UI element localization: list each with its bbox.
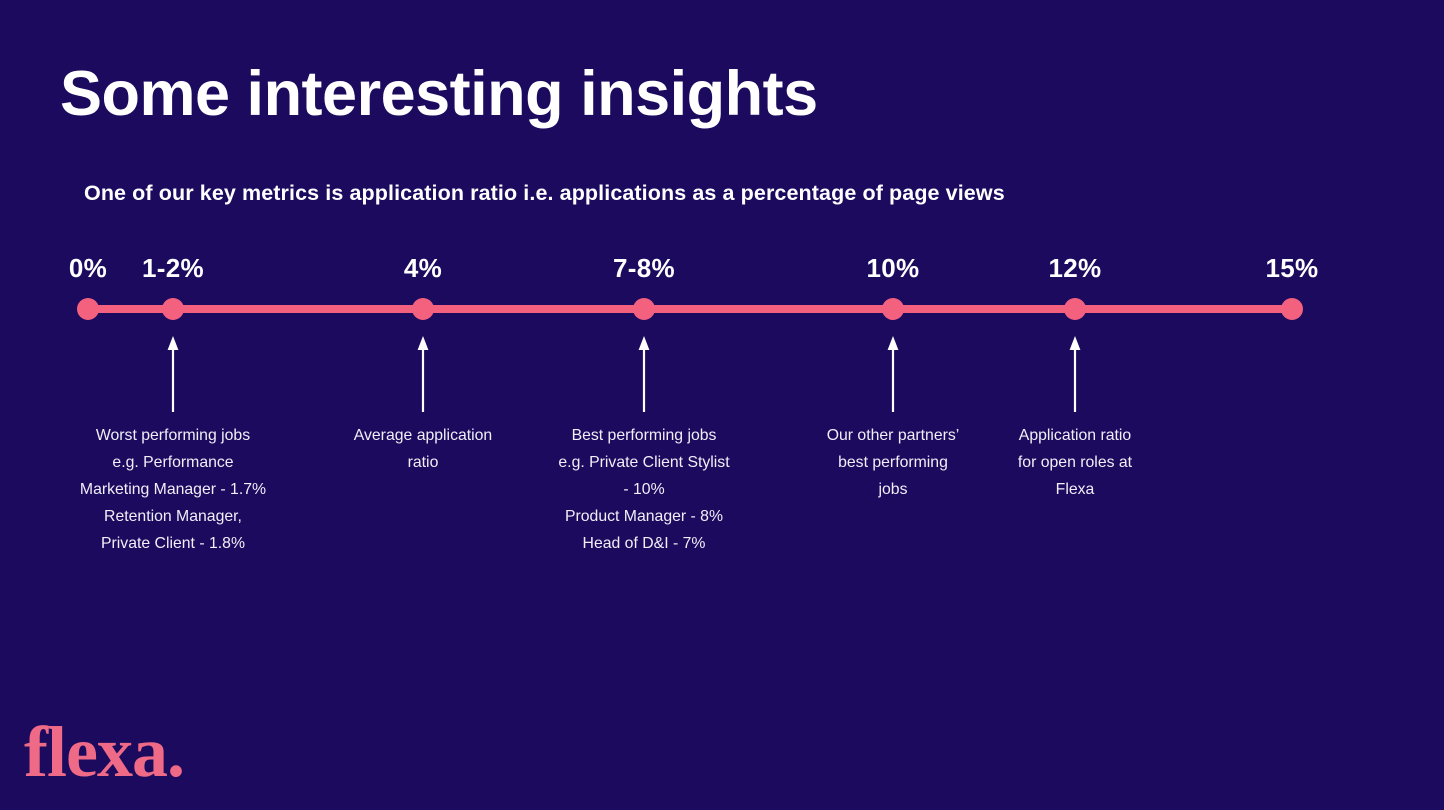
timeline-dot[interactable] xyxy=(77,298,99,320)
annotation-line: Flexa xyxy=(995,476,1155,503)
slide-canvas: Some interesting insights One of our key… xyxy=(0,0,1444,810)
arrow-up-icon xyxy=(166,336,180,417)
annotation-line: - 10% xyxy=(534,476,754,503)
annotation-line: Our other partners’ xyxy=(803,422,983,449)
annotation-text: Average applicationratio xyxy=(328,422,518,476)
page-title: Some interesting insights xyxy=(60,60,818,129)
timeline-dot[interactable] xyxy=(162,298,184,320)
arrow-up-icon xyxy=(1068,336,1082,417)
annotation-text: Best performing jobse.g. Private Client … xyxy=(534,422,754,557)
timeline-tick-label: 7-8% xyxy=(524,253,764,284)
page-subtitle: One of our key metrics is application ra… xyxy=(84,181,1005,206)
annotation-line: Retention Manager, xyxy=(48,503,298,530)
annotation-line: e.g. Performance xyxy=(48,449,298,476)
application-ratio-timeline: 0%1-2%4%7-8%10%12%15% xyxy=(0,250,1444,330)
timeline-tick-label: 4% xyxy=(303,253,543,284)
annotation-line: Worst performing jobs xyxy=(48,422,298,449)
annotation-line: Product Manager - 8% xyxy=(534,503,754,530)
arrow-up-icon xyxy=(886,336,900,417)
annotation-text: Application ratiofor open roles atFlexa xyxy=(995,422,1155,503)
timeline-tick-label: 12% xyxy=(955,253,1195,284)
timeline-dot[interactable] xyxy=(1281,298,1303,320)
timeline-track xyxy=(88,305,1292,313)
annotation-line: best performing xyxy=(803,449,983,476)
timeline-dot[interactable] xyxy=(633,298,655,320)
annotation-line: Application ratio xyxy=(995,422,1155,449)
annotation-text: Worst performing jobse.g. PerformanceMar… xyxy=(48,422,298,557)
annotation-line: Best performing jobs xyxy=(534,422,754,449)
timeline-dot[interactable] xyxy=(882,298,904,320)
annotation-line: Head of D&I - 7% xyxy=(534,530,754,557)
annotation-line: Marketing Manager - 1.7% xyxy=(48,476,298,503)
timeline-tick-label: 15% xyxy=(1172,253,1412,284)
timeline-dot[interactable] xyxy=(412,298,434,320)
annotation-line: e.g. Private Client Stylist xyxy=(534,449,754,476)
timeline-dot[interactable] xyxy=(1064,298,1086,320)
annotation-line: for open roles at xyxy=(995,449,1155,476)
arrow-up-icon xyxy=(637,336,651,417)
annotation-line: jobs xyxy=(803,476,983,503)
arrow-up-icon xyxy=(416,336,430,417)
flexa-logo: flexa. xyxy=(24,716,184,788)
timeline-tick-label: 1-2% xyxy=(53,253,293,284)
annotation-text: Our other partners’best performingjobs xyxy=(803,422,983,503)
annotation-line: ratio xyxy=(328,449,518,476)
annotation-line: Average application xyxy=(328,422,518,449)
annotation-line: Private Client - 1.8% xyxy=(48,530,298,557)
